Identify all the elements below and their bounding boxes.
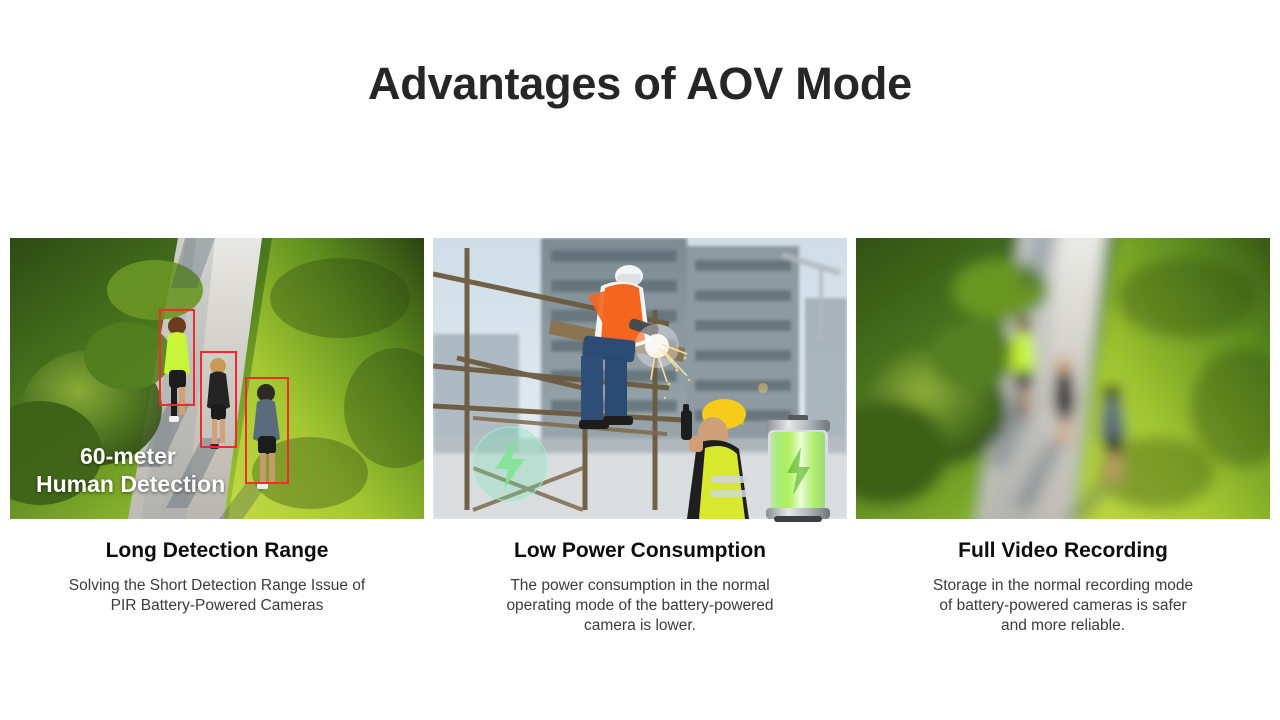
card-low-power-consumption: Low Power Consumption The power consumpt… [433,238,847,635]
slide-root: Advantages of AOV Mode [0,0,1280,720]
photo-runners-detection [10,238,424,519]
card-body-1: Solving the Short Detection Range Issue … [67,576,367,616]
card-media-low-power-consumption [433,238,847,519]
photo-runners-blurred [856,238,1270,519]
page-title: Advantages of AOV Mode [0,58,1280,110]
card-full-video-recording: Full Video Recording Storage in the norm… [856,238,1270,635]
card-heading-2: Low Power Consumption [514,539,766,563]
card-body-2: The power consumption in the normal oper… [499,576,781,635]
photo-frame-3 [856,238,1270,519]
card-heading-1: Long Detection Range [106,539,329,563]
battery-full-icon [760,415,836,523]
advantage-cards-row: 60-meter Human Detection Long Detection … [0,238,1280,635]
card-media-full-video-recording [856,238,1270,519]
card-heading-3: Full Video Recording [958,539,1168,563]
power-bolt-circle-icon [471,425,549,503]
card-long-detection-range: 60-meter Human Detection Long Detection … [10,238,424,635]
photo-frame-1 [10,238,424,519]
card-body-3: Storage in the normal recording mode of … [929,576,1197,635]
card-media-long-detection-range: 60-meter Human Detection [10,238,424,519]
